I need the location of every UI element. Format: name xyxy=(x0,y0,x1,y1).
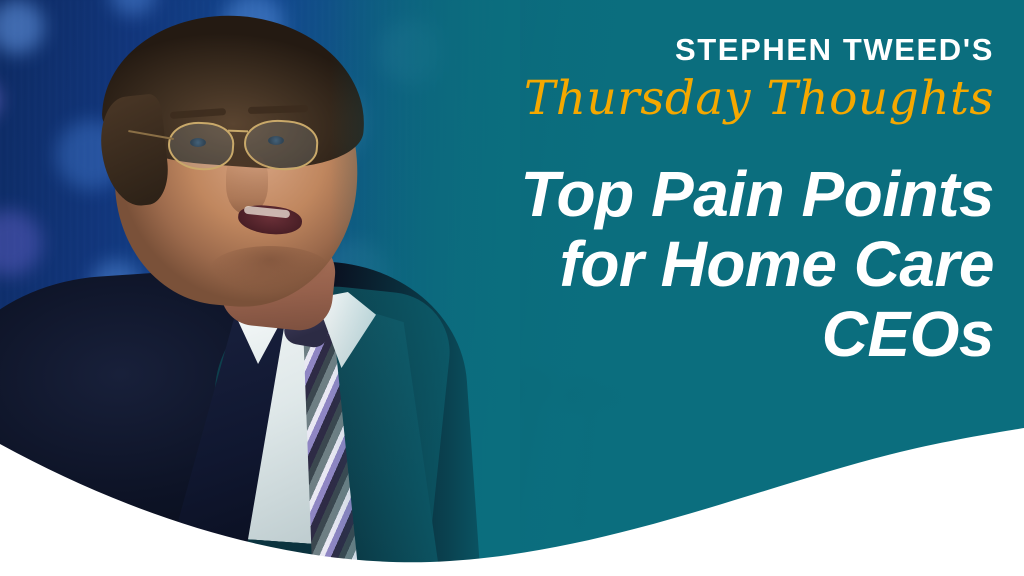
series-title: Thursday Thoughts xyxy=(374,71,994,126)
hair-sideburn xyxy=(96,93,171,209)
headline-line-1: Top Pain Points xyxy=(374,160,994,230)
page-title: Top Pain Points for Home Care CEOs xyxy=(374,160,994,369)
bottom-wave-divider xyxy=(0,416,1024,576)
thursday-thoughts-card: STEPHEN TWEED'S Thursday Thoughts Top Pa… xyxy=(0,0,1024,576)
headline-line-2: for Home Care xyxy=(374,230,994,300)
title-text-block: STEPHEN TWEED'S Thursday Thoughts Top Pa… xyxy=(374,34,994,370)
headline-line-3: CEOs xyxy=(374,300,994,370)
eyebrow-label: STEPHEN TWEED'S xyxy=(374,34,994,65)
chin-shadow xyxy=(210,246,330,292)
